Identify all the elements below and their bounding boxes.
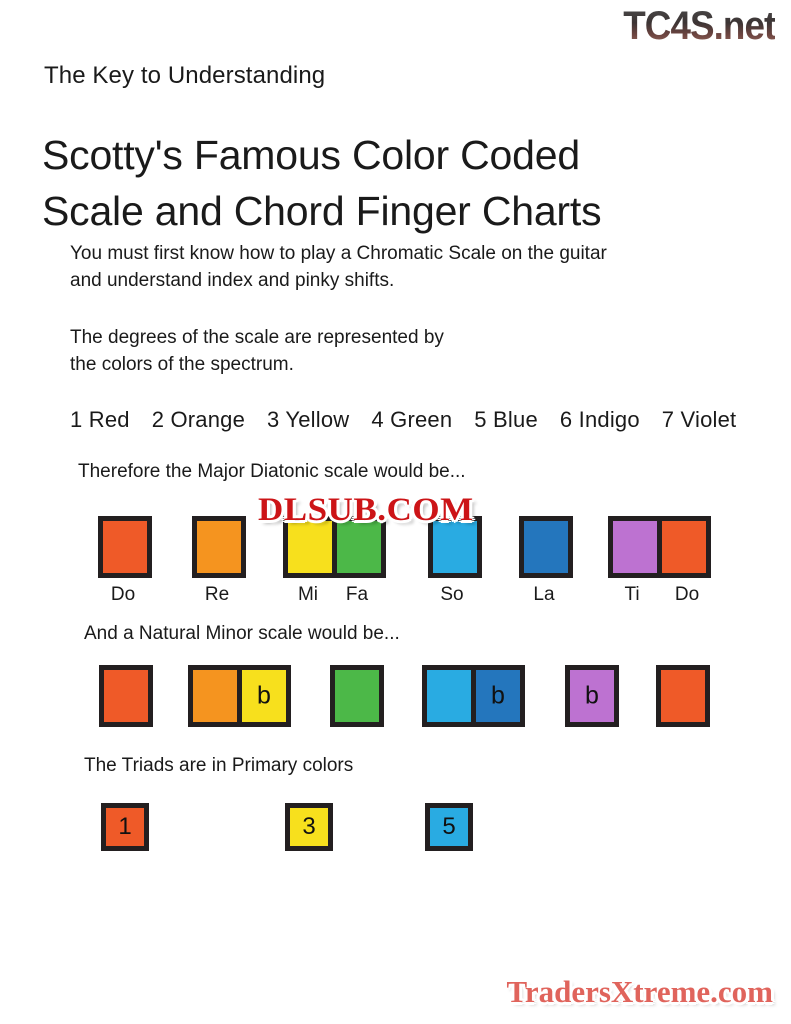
spectrum-item-orange: 2 Orange <box>152 407 245 432</box>
color-box <box>335 670 379 722</box>
color-box: b <box>242 670 286 722</box>
scale-degree-label: Re <box>187 584 247 606</box>
color-box: 5 <box>430 808 468 846</box>
color-box <box>662 521 706 573</box>
color-box <box>613 521 657 573</box>
color-box-group <box>608 516 711 578</box>
page-root: TC4S.net The Key to Understanding Scotty… <box>0 0 791 1024</box>
spectrum-legend: 1 Red2 Orange3 Yellow4 Green5 Blue6 Indi… <box>70 407 736 433</box>
color-box-group: 3 <box>285 803 333 851</box>
brand-logo: TC4S.net <box>623 6 775 46</box>
color-box-group <box>99 665 153 727</box>
color-box-group <box>98 516 152 578</box>
page-kicker: The Key to Understanding <box>44 62 325 90</box>
scale-degree-label: La <box>514 584 574 606</box>
scale-degree-label: Do <box>657 584 717 606</box>
watermark-dlsub: DLSUB.COM <box>258 492 474 529</box>
watermark-tradersxtreme: TradersXtreme.com <box>506 974 773 1010</box>
triads-lead: The Triads are in Primary colors <box>84 755 353 777</box>
color-box-group: 1 <box>101 803 149 851</box>
color-box <box>661 670 705 722</box>
major-scale-lead: Therefore the Major Diatonic scale would… <box>78 461 466 483</box>
color-box <box>104 670 148 722</box>
scale-degree-label: So <box>422 584 482 606</box>
color-box: b <box>476 670 520 722</box>
color-box: b <box>570 670 614 722</box>
color-box-group: b <box>422 665 525 727</box>
color-box-group <box>519 516 573 578</box>
color-box-mark: 3 <box>290 815 328 839</box>
scale-degree-label: Ti <box>602 584 662 606</box>
page-title: Scotty's Famous Color Coded Scale and Ch… <box>42 127 601 239</box>
color-box <box>427 670 471 722</box>
spectrum-item-green: 4 Green <box>371 407 452 432</box>
color-box <box>197 521 241 573</box>
color-box-group: 5 <box>425 803 473 851</box>
color-box: 3 <box>290 808 328 846</box>
color-box-group <box>192 516 246 578</box>
spectrum-item-yellow: 3 Yellow <box>267 407 349 432</box>
scale-degree-label: Do <box>93 584 153 606</box>
color-box-mark: 1 <box>106 815 144 839</box>
spectrum-item-blue: 5 Blue <box>474 407 538 432</box>
color-box-group: b <box>565 665 619 727</box>
color-box-mark: 5 <box>430 815 468 839</box>
scale-degree-label: Fa <box>327 584 387 606</box>
degrees-paragraph: The degrees of the scale are represented… <box>70 324 444 378</box>
color-box <box>103 521 147 573</box>
color-box-mark: b <box>242 684 286 709</box>
color-box-group: b <box>188 665 291 727</box>
color-box-mark: b <box>476 684 520 709</box>
color-box <box>524 521 568 573</box>
color-box-group <box>330 665 384 727</box>
spectrum-item-indigo: 6 Indigo <box>560 407 640 432</box>
color-box-group <box>656 665 710 727</box>
color-box: 1 <box>106 808 144 846</box>
intro-paragraph: You must first know how to play a Chroma… <box>70 240 607 294</box>
color-box <box>193 670 237 722</box>
color-box-mark: b <box>570 684 614 709</box>
spectrum-item-violet: 7 Violet <box>662 407 737 432</box>
spectrum-item-red: 1 Red <box>70 407 130 432</box>
minor-scale-lead: And a Natural Minor scale would be... <box>84 623 400 645</box>
